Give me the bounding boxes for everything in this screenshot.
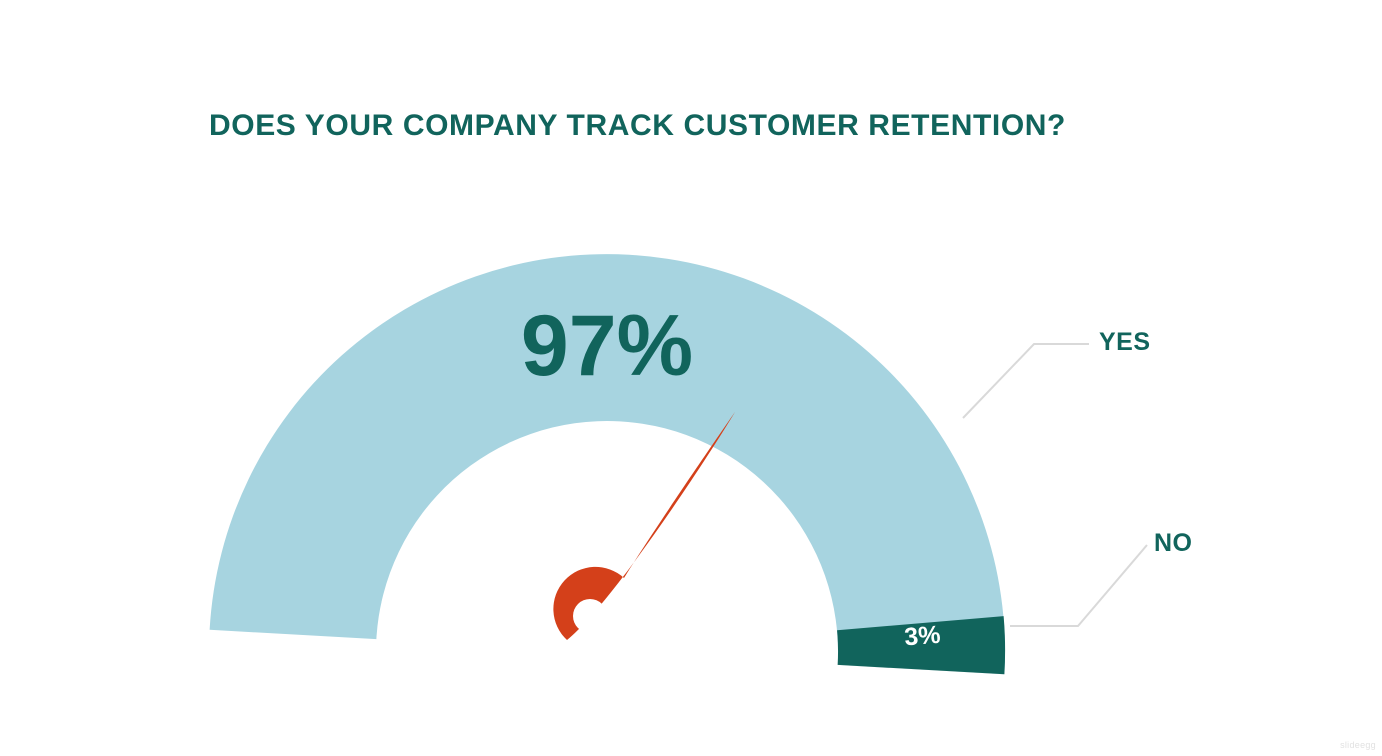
slide-canvas: DOES YOUR COMPANY TRACK CUSTOMER RETENTI…: [0, 0, 1382, 756]
leader-line-no: [1010, 545, 1147, 626]
callout-label-no: NO: [1154, 529, 1193, 558]
watermark: slideegg: [1340, 740, 1376, 750]
gauge-needle-hub-hole: [573, 599, 607, 633]
gauge-chart: 97% 3%: [0, 0, 1382, 756]
gauge-needle-group: [553, 412, 735, 640]
value-label-yes: 97%: [521, 298, 693, 394]
value-label-no: 3%: [903, 621, 941, 652]
leader-line-yes: [963, 344, 1089, 418]
callout-label-yes: YES: [1099, 328, 1151, 357]
